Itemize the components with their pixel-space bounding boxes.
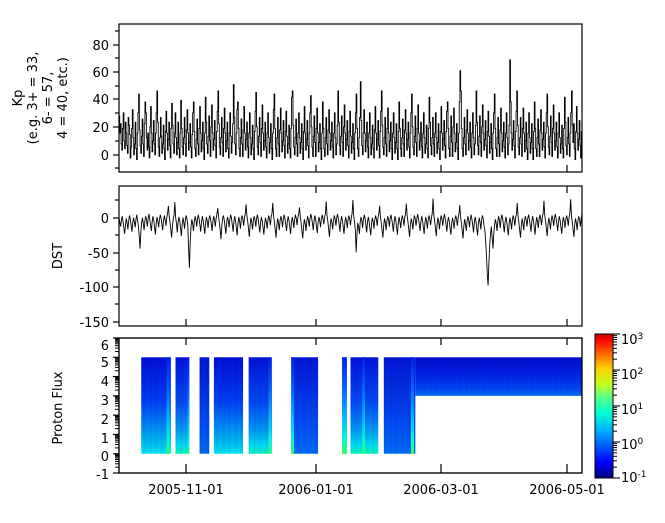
proton-flux-stripe bbox=[250, 357, 251, 453]
dst-axis-label-text: DST bbox=[51, 243, 66, 269]
proton-flux-stripe bbox=[518, 357, 519, 396]
proton-flux-event-column bbox=[362, 357, 365, 453]
xtick-label: 2006-05-01 bbox=[529, 483, 605, 498]
proton-flux-stripe bbox=[510, 357, 511, 396]
proton-flux-stripe bbox=[360, 357, 361, 453]
proton-flux-stripe bbox=[200, 357, 201, 453]
proton-flux-stripe bbox=[241, 357, 242, 453]
proton-flux-stripe bbox=[252, 357, 253, 453]
proton-flux-event-column bbox=[291, 357, 294, 453]
proton-flux-stripe bbox=[443, 357, 444, 396]
proton-axis-label-text: Proton Flux bbox=[51, 371, 66, 444]
proton-flux-stripe bbox=[165, 357, 166, 453]
proton-flux-stripe bbox=[556, 357, 557, 396]
proton-flux-stripe bbox=[393, 357, 394, 453]
proton-flux-stripe bbox=[180, 357, 181, 453]
proton-flux-stripe bbox=[463, 357, 464, 396]
proton-ytick-label: 3 bbox=[101, 394, 109, 409]
proton-flux-stripe bbox=[240, 357, 241, 453]
proton-flux-stripe bbox=[395, 357, 396, 453]
proton-flux-stripe bbox=[537, 357, 538, 396]
proton-flux-stripe bbox=[552, 357, 553, 396]
proton-flux-stripe bbox=[403, 357, 404, 453]
proton-flux-stripe bbox=[185, 357, 186, 453]
proton-flux-stripe bbox=[560, 357, 561, 396]
proton-flux-stripe bbox=[561, 357, 562, 396]
proton-flux-stripe bbox=[237, 357, 238, 453]
proton-flux-stripe bbox=[435, 357, 436, 396]
xtick-label: 2006-01-01 bbox=[278, 483, 354, 498]
proton-flux-stripe bbox=[203, 357, 204, 453]
proton-flux-stripe bbox=[483, 357, 484, 396]
proton-flux-stripe bbox=[497, 357, 498, 396]
kp-ytick-label: 0 bbox=[101, 149, 109, 164]
proton-flux-stripe bbox=[146, 357, 147, 453]
proton-flux-stripe bbox=[532, 357, 533, 396]
proton-flux-stripe bbox=[206, 357, 207, 453]
proton-flux-stripe bbox=[489, 357, 490, 396]
proton-flux-stripe bbox=[465, 357, 466, 396]
proton-flux-stripe bbox=[141, 357, 142, 453]
proton-flux-stripe bbox=[542, 357, 543, 396]
proton-flux-stripe bbox=[564, 357, 565, 396]
kp-ytick-label: 40 bbox=[92, 93, 109, 108]
proton-flux-stripe bbox=[357, 357, 358, 453]
proton-flux-stripe bbox=[370, 357, 371, 453]
proton-flux-event-column bbox=[167, 357, 170, 453]
plot-svg: 80 60 40 20 0 Kp (e.g. 3+ = 33, 6- = 57,… bbox=[0, 0, 665, 523]
proton-flux-stripe bbox=[508, 357, 509, 396]
proton-flux-stripe bbox=[304, 357, 305, 453]
proton-flux-stripe bbox=[577, 357, 578, 396]
proton-flux-stripe bbox=[179, 357, 180, 453]
proton-flux-stripe bbox=[568, 357, 569, 396]
proton-flux-stripe bbox=[457, 357, 458, 396]
proton-flux-stripe bbox=[531, 357, 532, 396]
proton-flux-stripe bbox=[368, 357, 369, 453]
proton-flux-stripe bbox=[406, 357, 407, 453]
proton-flux-stripe bbox=[430, 357, 431, 396]
proton-flux-stripe bbox=[183, 357, 184, 453]
proton-flux-stripe bbox=[515, 357, 516, 396]
proton-flux-stripe bbox=[487, 357, 488, 396]
proton-flux-stripe bbox=[317, 357, 318, 453]
proton-flux-stripe bbox=[470, 357, 471, 396]
proton-flux-stripe bbox=[505, 357, 506, 396]
proton-flux-stripe bbox=[446, 357, 447, 396]
proton-flux-stripe bbox=[572, 357, 573, 396]
proton-ytick-label: 4 bbox=[101, 375, 109, 390]
proton-flux-stripe bbox=[264, 357, 265, 453]
proton-flux-stripe bbox=[423, 357, 424, 396]
proton-flux-stripe bbox=[365, 357, 366, 453]
proton-flux-stripe bbox=[460, 357, 461, 396]
proton-flux-stripe bbox=[451, 357, 452, 396]
proton-flux-stripe bbox=[144, 357, 145, 453]
proton-flux-event-column bbox=[187, 357, 188, 453]
kp-axis-label-line: Kp bbox=[11, 90, 26, 107]
proton-flux-stripe bbox=[427, 357, 428, 396]
proton-flux-stripe bbox=[409, 357, 410, 453]
proton-flux-stripe bbox=[529, 357, 530, 396]
proton-flux-stripe bbox=[444, 357, 445, 396]
proton-ytick-label: 0 bbox=[101, 450, 109, 465]
dst-axis-label: DST bbox=[51, 243, 66, 269]
proton-flux-stripe bbox=[384, 357, 385, 453]
proton-flux-stripe bbox=[225, 357, 226, 453]
proton-flux-stripe bbox=[151, 357, 152, 453]
proton-flux-stripe bbox=[545, 357, 546, 396]
proton-flux-stripe bbox=[375, 357, 376, 453]
proton-flux-stripe bbox=[230, 357, 231, 453]
proton-flux-stripe bbox=[415, 357, 416, 396]
proton-flux-stripe bbox=[420, 357, 421, 396]
proton-flux-stripe bbox=[355, 357, 356, 453]
proton-flux-stripe bbox=[404, 357, 405, 453]
proton-flux-stripe bbox=[431, 357, 432, 396]
proton-flux-stripe bbox=[502, 357, 503, 396]
proton-flux-stripe bbox=[262, 357, 263, 453]
proton-flux-stripe bbox=[310, 357, 311, 453]
proton-flux-stripe bbox=[220, 357, 221, 453]
proton-flux-stripe bbox=[154, 357, 155, 453]
proton-flux-stripe bbox=[563, 357, 564, 396]
proton-flux-stripe bbox=[447, 357, 448, 396]
proton-flux-stripe bbox=[398, 357, 399, 453]
proton-flux-stripe bbox=[407, 357, 408, 453]
proton-flux-stripe bbox=[204, 357, 205, 453]
proton-flux-stripe bbox=[305, 357, 306, 453]
proton-flux-stripe bbox=[302, 357, 303, 453]
proton-flux-stripe bbox=[555, 357, 556, 396]
proton-flux-stripe bbox=[208, 357, 209, 453]
proton-flux-stripe bbox=[540, 357, 541, 396]
proton-flux-stripe bbox=[390, 357, 391, 453]
proton-flux-stripe bbox=[441, 357, 442, 396]
proton-flux-stripe bbox=[294, 357, 295, 453]
proton-flux-stripe bbox=[351, 357, 352, 453]
proton-flux-stripe bbox=[576, 357, 577, 396]
proton-flux-stripe bbox=[569, 357, 570, 396]
proton-flux-stripe bbox=[254, 357, 255, 453]
proton-flux-stripe bbox=[422, 357, 423, 396]
kp-axis-label-line: (e.g. 3+ = 33, bbox=[26, 52, 41, 145]
dst-ytick-label: 0 bbox=[101, 212, 109, 227]
proton-flux-stripe bbox=[536, 357, 537, 396]
proton-flux-stripe bbox=[547, 357, 548, 396]
proton-flux-stripe bbox=[475, 357, 476, 396]
proton-flux-stripe bbox=[539, 357, 540, 396]
proton-flux-stripe bbox=[550, 357, 551, 396]
proton-flux-stripe bbox=[553, 357, 554, 396]
proton-flux-stripe bbox=[259, 357, 260, 453]
proton-flux-stripe bbox=[449, 357, 450, 396]
proton-flux-stripe bbox=[352, 357, 353, 453]
proton-flux-stripe bbox=[526, 357, 527, 396]
proton-flux-stripe bbox=[143, 357, 144, 453]
proton-flux-stripe bbox=[417, 357, 418, 396]
xtick-label: 2005-11-01 bbox=[148, 483, 224, 498]
proton-ytick-label: 1 bbox=[101, 432, 109, 447]
dst-ytick-label: -50 bbox=[88, 247, 109, 262]
proton-flux-stripe bbox=[462, 357, 463, 396]
proton-flux-stripe bbox=[257, 357, 258, 453]
proton-flux-stripe bbox=[163, 357, 164, 453]
proton-flux-stripe bbox=[260, 357, 261, 453]
proton-flux-stripe bbox=[521, 357, 522, 396]
proton-flux-stripe bbox=[455, 357, 456, 396]
proton-flux-stripe bbox=[312, 357, 313, 453]
proton-flux-stripe bbox=[158, 357, 159, 453]
proton-flux-event-column bbox=[342, 357, 347, 453]
dst-panel: 0 -50 -100 -150 DST bbox=[51, 186, 582, 331]
proton-flux-stripe bbox=[558, 357, 559, 396]
proton-flux-stripe bbox=[495, 357, 496, 396]
proton-flux-stripe bbox=[298, 357, 299, 453]
kp-ytick-label: 60 bbox=[92, 66, 109, 81]
proton-flux-stripe bbox=[544, 357, 545, 396]
proton-flux-stripe bbox=[373, 357, 374, 453]
proton-flux-stripe bbox=[524, 357, 525, 396]
proton-flux-stripe bbox=[157, 357, 158, 453]
proton-flux-stripe bbox=[227, 357, 228, 453]
proton-flux-stripe bbox=[354, 357, 355, 453]
proton-flux-stripe bbox=[523, 357, 524, 396]
proton-flux-stripe bbox=[499, 357, 500, 396]
colorbar-gradient bbox=[595, 334, 613, 478]
proton-flux-stripe bbox=[255, 357, 256, 453]
proton-flux-stripe bbox=[528, 357, 529, 396]
proton-flux-event-column bbox=[411, 357, 414, 453]
proton-flux-stripe bbox=[452, 357, 453, 396]
kp-ytick-label: 20 bbox=[92, 121, 109, 136]
dst-ytick-label: -100 bbox=[79, 281, 109, 296]
proton-flux-stripe bbox=[307, 357, 308, 453]
proton-flux-stripe bbox=[428, 357, 429, 396]
proton-flux-stripe bbox=[296, 357, 297, 453]
proton-flux-stripe bbox=[214, 357, 215, 453]
proton-flux-stripe bbox=[478, 357, 479, 396]
proton-flux-stripe bbox=[571, 357, 572, 396]
proton-flux-stripe bbox=[534, 357, 535, 396]
proton-flux-stripe bbox=[182, 357, 183, 453]
proton-flux-stripe bbox=[439, 357, 440, 396]
proton-flux-stripe bbox=[233, 357, 234, 453]
proton-flux-stripe bbox=[491, 357, 492, 396]
proton-flux-stripe bbox=[520, 357, 521, 396]
proton-flux-stripe bbox=[309, 357, 310, 453]
proton-ytick-label: 6 bbox=[101, 339, 109, 354]
proton-flux-stripe bbox=[511, 357, 512, 396]
proton-ytick-label: 5 bbox=[101, 356, 109, 371]
proton-flux-stripe bbox=[265, 357, 266, 453]
proton-flux-stripe bbox=[313, 357, 314, 453]
proton-flux-stripe bbox=[400, 357, 401, 453]
kp-axis-label-line: 6- = 57, bbox=[41, 72, 56, 125]
proton-flux-stripe bbox=[385, 357, 386, 453]
proton-flux-stripe bbox=[433, 357, 434, 396]
proton-flux-stripe bbox=[500, 357, 501, 396]
dst-plot-frame bbox=[119, 186, 582, 326]
proton-flux-stripe bbox=[147, 357, 148, 453]
proton-flux-stripe bbox=[235, 357, 236, 453]
proton-flux-stripe bbox=[401, 357, 402, 453]
proton-flux-stripe bbox=[232, 357, 233, 453]
kp-ytick-label: 80 bbox=[92, 39, 109, 54]
proton-flux-stripe bbox=[579, 357, 580, 396]
proton-flux-stripe bbox=[471, 357, 472, 396]
proton-flux-stripe bbox=[438, 357, 439, 396]
proton-flux-stripe bbox=[507, 357, 508, 396]
proton-flux-stripe bbox=[396, 357, 397, 453]
proton-ytick-label: 2 bbox=[101, 413, 109, 428]
proton-flux-stripe bbox=[359, 357, 360, 453]
proton-flux-stripe bbox=[216, 357, 217, 453]
proton-flux-stripe bbox=[513, 357, 514, 396]
proton-flux-stripe bbox=[476, 357, 477, 396]
proton-flux-stripe bbox=[548, 357, 549, 396]
proton-flux-stripe bbox=[479, 357, 480, 396]
proton-flux-stripe bbox=[473, 357, 474, 396]
proton-flux-stripe bbox=[267, 357, 268, 453]
proton-flux-stripe bbox=[152, 357, 153, 453]
proton-flux-stripe bbox=[299, 357, 300, 453]
proton-flux-stripe bbox=[481, 357, 482, 396]
proton-flux-stripe bbox=[367, 357, 368, 453]
proton-flux-stripe bbox=[222, 357, 223, 453]
kp-axis-label-line: 4 = 40, etc.) bbox=[56, 57, 71, 139]
proton-flux-stripe bbox=[249, 357, 250, 453]
proton-flux-stripe bbox=[201, 357, 202, 453]
proton-flux-stripe bbox=[229, 357, 230, 453]
proton-flux-stripe bbox=[377, 357, 378, 453]
proton-flux-stripe bbox=[425, 357, 426, 396]
proton-ytick-label: -1 bbox=[96, 468, 109, 483]
proton-flux-stripe bbox=[389, 357, 390, 453]
proton-flux-stripe bbox=[392, 357, 393, 453]
proton-flux-event-column bbox=[269, 357, 271, 453]
proton-flux-stripe bbox=[468, 357, 469, 396]
proton-flux-stripe bbox=[459, 357, 460, 396]
proton-flux-stripe bbox=[217, 357, 218, 453]
proton-flux-stripe bbox=[160, 357, 161, 453]
proton-flux-stripe bbox=[224, 357, 225, 453]
proton-flux-stripe bbox=[492, 357, 493, 396]
proton-flux-stripe bbox=[574, 357, 575, 396]
proton-flux-stripe bbox=[467, 357, 468, 396]
proton-flux-stripe bbox=[155, 357, 156, 453]
proton-flux-stripe bbox=[454, 357, 455, 396]
proton-flux-stripe bbox=[484, 357, 485, 396]
proton-flux-stripe bbox=[494, 357, 495, 396]
proton-flux-stripe bbox=[238, 357, 239, 453]
xtick-label: 2006-03-01 bbox=[403, 483, 479, 498]
proton-flux-stripe bbox=[387, 357, 388, 453]
dst-ytick-label: -150 bbox=[79, 316, 109, 331]
proton-flux-stripe bbox=[149, 357, 150, 453]
proton-flux-stripe bbox=[486, 357, 487, 396]
proton-flux-stripe bbox=[219, 357, 220, 453]
proton-flux-stripe bbox=[516, 357, 517, 396]
proton-flux-stripe bbox=[372, 357, 373, 453]
proton-flux-stripe bbox=[162, 357, 163, 453]
proton-flux-stripe bbox=[177, 357, 178, 453]
proton-flux-stripe bbox=[419, 357, 420, 396]
proton-flux-stripe bbox=[436, 357, 437, 396]
proton-flux-stripe bbox=[175, 357, 176, 453]
proton-flux-stripe bbox=[301, 357, 302, 453]
proton-flux-stripe bbox=[315, 357, 316, 453]
figure-root: 80 60 40 20 0 Kp (e.g. 3+ = 33, 6- = 57,… bbox=[0, 0, 665, 523]
proton-flux-stripe bbox=[503, 357, 504, 396]
proton-axis-label: Proton Flux bbox=[51, 371, 66, 444]
proton-flux-stripe bbox=[566, 357, 567, 396]
